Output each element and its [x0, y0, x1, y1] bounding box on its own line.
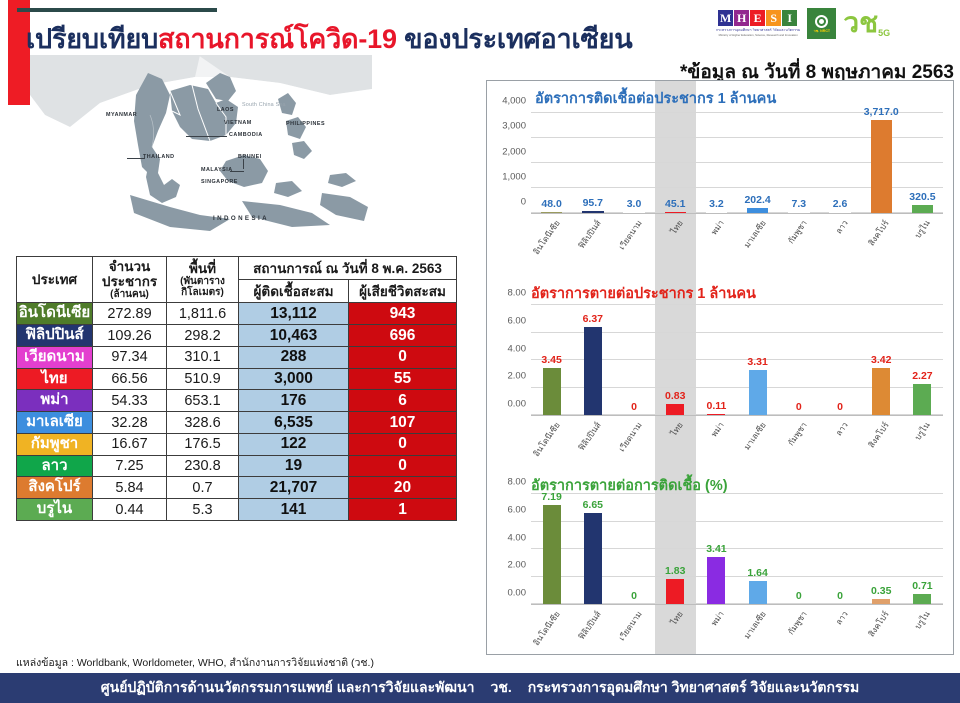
bar-value-label: 2.6 [833, 198, 848, 210]
title-rule [17, 8, 217, 12]
bar-value-label: 0.11 [706, 400, 726, 412]
y-axis-tick: 0 [521, 197, 526, 208]
page-title: เปรียบเทียบสถานการณ์โควิด-19 ของประเทศอา… [26, 17, 633, 60]
th-area-main: พื้นที่ [189, 261, 216, 276]
x-axis-label: ฟิลิปปินส์ [572, 606, 613, 650]
x-axis-label: ไทย [655, 606, 696, 650]
bar-value-label: 3,717.0 [864, 106, 899, 118]
cell-cases: 10,463 [239, 325, 349, 347]
cell-population: 0.44 [93, 499, 167, 521]
bar-group: 6.37 [572, 305, 613, 415]
bar-group: 3.31 [737, 305, 778, 415]
chart1-axis [531, 213, 943, 214]
bar-group: 3.0 [613, 113, 654, 213]
cell-country: กัมพูชา [17, 433, 93, 455]
bar-group: 45.1 [655, 113, 696, 213]
x-axis-label-text: สิงคโปร์ [865, 217, 893, 249]
x-axis-label: กัมพูชา [778, 417, 819, 461]
bar-group: 0.11 [696, 305, 737, 415]
bar-value-label: 6.37 [583, 313, 603, 325]
y-axis-tick: 6.00 [508, 315, 527, 326]
x-axis-label: สิงคโปร์ [861, 606, 902, 650]
mhesi-letter-h: H [734, 10, 749, 26]
cell-deaths: 0 [349, 455, 457, 477]
x-axis-label: สิงคโปร์ [861, 215, 902, 259]
bar-group: 0 [819, 494, 860, 604]
x-axis-label-text: พม่า [707, 217, 727, 238]
cell-population: 54.33 [93, 390, 167, 412]
cell-deaths: 20 [349, 477, 457, 499]
bar-value-label: 0 [796, 590, 802, 602]
bar-value-label: 3.31 [747, 356, 767, 368]
bar-value-label: 1.64 [747, 567, 767, 579]
x-axis-label: พม่า [696, 417, 737, 461]
cell-cases: 176 [239, 390, 349, 412]
x-axis-label: ไทย [655, 417, 696, 461]
x-axis-label-text: พม่า [707, 608, 727, 629]
cell-area: 510.9 [167, 368, 239, 390]
map-leader-brunei [243, 159, 244, 169]
x-axis-label: กัมพูชา [778, 215, 819, 259]
table-row: ไทย66.56510.93,00055 [17, 368, 457, 390]
bar-group: 0.83 [655, 305, 696, 415]
map-leader-thailand [127, 158, 145, 159]
x-axis-label: เวียดนาม [613, 606, 654, 650]
southeast-asia-map: MYANMAR LAOS VIETNAM CAMBODIA THAILAND M… [30, 55, 372, 251]
cell-country: เวียดนาม [17, 346, 93, 368]
cell-country: พม่า [17, 390, 93, 412]
cell-area: 328.6 [167, 412, 239, 434]
bar-value-label: 3.45 [541, 354, 561, 366]
bar [913, 384, 931, 415]
y-axis-tick: 4.00 [508, 532, 527, 543]
bar [872, 368, 890, 415]
bar-group: 48.0 [531, 113, 572, 213]
bar [666, 404, 684, 415]
map-label-brunei: BRUNEI [238, 154, 262, 160]
x-axis-label: พม่า [696, 215, 737, 259]
cell-area: 230.8 [167, 455, 239, 477]
bar [749, 581, 767, 604]
table-row: ฟิลิปปินส์109.26298.210,463696 [17, 325, 457, 347]
map-label-laos: LAOS [217, 107, 234, 113]
x-axis-label: บรูไน [902, 215, 943, 259]
bar [749, 370, 767, 416]
chart-death-rate-per-million: อัตราการตายต่อประชากร 1 ล้านคน 0.002.004… [487, 277, 953, 469]
chart1-xlabels: อินโดนีเซียฟิลิปปินส์เวียดนามไทยพม่ามาเล… [531, 215, 943, 259]
bar-value-label: 6.65 [583, 499, 603, 511]
cell-country: บรูไน [17, 499, 93, 521]
th-population-main: จำนวน ประชากร [102, 259, 157, 289]
th-country: ประเทศ [17, 257, 93, 303]
bar-value-label: 3.0 [627, 198, 642, 210]
bar-value-label: 3.42 [871, 354, 891, 366]
bar-value-label: 0 [837, 590, 843, 602]
map-label-cambodia: CAMBODIA [229, 132, 263, 138]
bar-value-label: 2.27 [912, 370, 932, 382]
x-axis-label-text: เวียดนาม [615, 419, 646, 455]
chart3-bars: 7.196.6501.833.411.64000.350.71 [531, 494, 943, 604]
bar [543, 505, 561, 604]
x-axis-label-text: มาเลเซีย [740, 419, 769, 453]
bar [913, 594, 931, 604]
bar-group: 202.4 [737, 113, 778, 213]
cell-area: 1,811.6 [167, 303, 239, 325]
x-axis-label-text: บรูไน [911, 217, 934, 241]
bar-group: 3.45 [531, 305, 572, 415]
y-axis-tick: 6.00 [508, 504, 527, 515]
chart3-title: อัตราการตายต่อการติดเชื้อ (%) [531, 474, 728, 497]
cell-area: 310.1 [167, 346, 239, 368]
x-axis-label: มาเลเซีย [737, 215, 778, 259]
th-situation: สถานการณ์ ณ วันที่ 8 พ.ค. 2563 [239, 257, 457, 280]
cell-population: 16.67 [93, 433, 167, 455]
cell-cases: 19 [239, 455, 349, 477]
footer-right: กระทรวงการอุดมศึกษา วิทยาศาสตร์ วิจัยและ… [528, 677, 860, 699]
th-deaths: ผู้เสียชีวิตสะสม [349, 280, 457, 303]
cell-cases: 141 [239, 499, 349, 521]
cell-country: ไทย [17, 368, 93, 390]
map-label-south-china-sea: South China Sea [242, 103, 270, 109]
cell-area: 653.1 [167, 390, 239, 412]
cell-deaths: 107 [349, 412, 457, 434]
x-axis-label: ไทย [655, 215, 696, 259]
bar-group: 1.83 [655, 494, 696, 604]
bar-value-label: 0 [796, 401, 802, 413]
x-axis-label-text: อินโดนีเซีย [529, 419, 563, 459]
charts-panel: อัตราการติดเชื้อต่อประชากร 1 ล้านคน 01,0… [486, 80, 954, 655]
x-axis-label: ลาว [819, 215, 860, 259]
cell-population: 32.28 [93, 412, 167, 434]
bar [584, 327, 602, 415]
x-axis-label-text: บรูไน [911, 608, 934, 632]
x-axis-label-text: สิงคโปร์ [865, 608, 893, 640]
chart1-title: อัตราการติดเชื้อต่อประชากร 1 ล้านคน [535, 87, 776, 110]
map-label-singapore: SINGAPORE [201, 179, 238, 185]
cell-country: ลาว [17, 455, 93, 477]
chart2-title: อัตราการตายต่อประชากร 1 ล้านคน [531, 282, 756, 305]
cell-area: 298.2 [167, 325, 239, 347]
x-axis-label: พม่า [696, 606, 737, 650]
x-axis-label: เวียดนาม [613, 215, 654, 259]
bar-group: 0 [613, 494, 654, 604]
y-axis-tick: 4.00 [508, 343, 527, 354]
map-label-myanmar: MYANMAR [106, 112, 137, 118]
th-cases: ผู้ติดเชื้อสะสม [239, 280, 349, 303]
y-axis-tick: 0.00 [508, 399, 527, 410]
nrct-label: วช. NRCT [814, 30, 830, 34]
x-axis-label-text: กัมพูชา [784, 419, 811, 449]
cell-population: 109.26 [93, 325, 167, 347]
bar-group: 0.71 [902, 494, 943, 604]
y-axis-tick: 0.00 [508, 588, 527, 599]
bar-group: 3.2 [696, 113, 737, 213]
th-population-sub: (ล้านคน) [94, 289, 165, 300]
bar-value-label: 3.41 [706, 543, 726, 555]
chart3-xlabels: อินโดนีเซียฟิลิปปินส์เวียดนามไทยพม่ามาเล… [531, 606, 943, 650]
mhesi-logo: M H E S I กระทรวงการอุดมศึกษา วิทยาศาสตร… [716, 10, 800, 37]
x-axis-label-text: สิงคโปร์ [865, 419, 893, 451]
table-row: มาเลเซีย32.28328.66,535107 [17, 412, 457, 434]
chart2-axis [531, 415, 943, 416]
bar-group: 0 [778, 305, 819, 415]
x-axis-label-text: มาเลเซีย [740, 608, 769, 642]
page-title-part2: สถานการณ์โควิด-19 [158, 24, 397, 54]
th-area-sub: (พันตารางกิโลเมตร) [168, 276, 237, 298]
mhesi-letter-m: M [718, 10, 733, 26]
bar-group: 3.42 [861, 305, 902, 415]
table-row: เวียดนาม97.34310.12880 [17, 346, 457, 368]
bar-group: 2.27 [902, 305, 943, 415]
table-row: ลาว7.25230.8190 [17, 455, 457, 477]
cell-population: 272.89 [93, 303, 167, 325]
bar [584, 513, 602, 604]
bar-value-label: 0.35 [871, 585, 891, 597]
bar-value-label: 0 [837, 401, 843, 413]
bar-value-label: 1.83 [665, 565, 685, 577]
th-area: พื้นที่ (พันตารางกิโลเมตร) [167, 257, 239, 303]
x-axis-label: เวียดนาม [613, 417, 654, 461]
cell-area: 176.5 [167, 433, 239, 455]
map-graphic [30, 55, 372, 251]
x-axis-label-text: ฟิลิปปินส์ [574, 608, 604, 642]
bar-value-label: 0.83 [665, 390, 685, 402]
x-axis-label-text: ลาว [832, 419, 852, 439]
chart2-xlabels: อินโดนีเซียฟิลิปปินส์เวียดนามไทยพม่ามาเล… [531, 417, 943, 461]
poster-root: เปรียบเทียบสถานการณ์โควิด-19 ของประเทศอา… [0, 0, 960, 703]
bar-group: 95.7 [572, 113, 613, 213]
vch-logo: วช5G [843, 9, 890, 38]
mhesi-letter-s: S [766, 10, 781, 26]
map-label-thailand: THAILAND [143, 154, 175, 160]
bar-value-label: 0 [631, 590, 637, 602]
mhesi-letter-i: I [782, 10, 797, 26]
x-axis-label-text: เวียดนาม [615, 217, 646, 253]
bar-value-label: 95.7 [583, 197, 603, 209]
footer-mid: วช. [490, 677, 511, 699]
cell-country: มาเลเซีย [17, 412, 93, 434]
x-axis-label: ลาว [819, 417, 860, 461]
table-body: อินโดนีเซีย272.891,811.613,112943ฟิลิปปิ… [17, 303, 457, 521]
bar [543, 368, 561, 415]
cell-cases: 21,707 [239, 477, 349, 499]
bar-group: 3,717.0 [861, 113, 902, 213]
page-title-part1: เปรียบเทียบ [26, 24, 158, 54]
source-note: แหล่งข้อมูล : Worldbank, Worldometer, WH… [16, 654, 374, 671]
x-axis-label: อินโดนีเซีย [531, 606, 572, 650]
x-axis-label: ฟิลิปปินส์ [572, 417, 613, 461]
cell-deaths: 55 [349, 368, 457, 390]
cell-deaths: 0 [349, 433, 457, 455]
x-axis-label-text: ไทย [667, 217, 687, 237]
x-axis-label: ฟิลิปปินส์ [572, 215, 613, 259]
map-leader-cambodia [186, 136, 227, 137]
bar-group: 7.19 [531, 494, 572, 604]
table-row: กัมพูชา16.67176.51220 [17, 433, 457, 455]
bar-value-label: 7.3 [792, 198, 807, 210]
x-axis-label-text: เวียดนาม [615, 608, 646, 644]
bar-value-label: 0.71 [912, 580, 932, 592]
x-axis-label-text: ฟิลิปปินส์ [574, 419, 604, 453]
map-label-indonesia: INDONESIA [213, 215, 269, 222]
bar-value-label: 320.5 [909, 191, 935, 203]
table-row: พม่า54.33653.11766 [17, 390, 457, 412]
bar-group: 3.41 [696, 494, 737, 604]
bar [666, 579, 684, 604]
mhesi-letters: M H E S I [718, 10, 798, 26]
bar-group: 0 [613, 305, 654, 415]
vch-5g-badge: 5G [878, 28, 890, 38]
bar-group: 320.5 [902, 113, 943, 213]
y-axis-tick: 3,000 [502, 121, 526, 132]
nrct-logo: วช. NRCT [807, 8, 836, 39]
cell-cases: 13,112 [239, 303, 349, 325]
x-axis-label-text: ลาว [832, 217, 852, 237]
cell-population: 5.84 [93, 477, 167, 499]
bar [707, 557, 725, 604]
bar-group: 0 [778, 494, 819, 604]
chart3-plot: 0.002.004.006.008.00 7.196.6501.833.411.… [531, 494, 943, 604]
bar-value-label: 48.0 [541, 198, 561, 210]
bar-group: 0 [819, 305, 860, 415]
page-title-part3: ของประเทศอาเซียน [397, 24, 633, 54]
mhesi-english-name: Ministry of Higher Education, Science, R… [719, 33, 798, 37]
x-axis-label-text: อินโดนีเซีย [529, 608, 563, 648]
cell-area: 5.3 [167, 499, 239, 521]
cell-population: 97.34 [93, 346, 167, 368]
x-axis-label-text: บรูไน [911, 419, 934, 443]
bar [871, 120, 892, 213]
y-axis-tick: 8.00 [508, 288, 527, 299]
x-axis-label-text: กัมพูชา [784, 608, 811, 638]
x-axis-label: กัมพูชา [778, 606, 819, 650]
y-axis-tick: 2.00 [508, 560, 527, 571]
cell-deaths: 6 [349, 390, 457, 412]
logo-group: M H E S I กระทรวงการอุดมศึกษา วิทยาศาสตร… [716, 8, 890, 39]
x-axis-label: อินโดนีเซีย [531, 215, 572, 259]
bar-group: 0.35 [861, 494, 902, 604]
y-axis-tick: 1,000 [502, 171, 526, 182]
cell-country: ฟิลิปปินส์ [17, 325, 93, 347]
cell-cases: 288 [239, 346, 349, 368]
y-axis-tick: 4,000 [502, 96, 526, 107]
cell-deaths: 1 [349, 499, 457, 521]
footer-left: ศูนย์ปฏิบัติการด้านนวัตกรรมการแพทย์ และก… [101, 677, 475, 699]
chart1-plot: 01,0002,0003,0004,000 48.095.73.045.13.2… [531, 113, 943, 213]
cell-deaths: 943 [349, 303, 457, 325]
table-row: บรูไน0.445.31411 [17, 499, 457, 521]
x-axis-label: มาเลเซีย [737, 606, 778, 650]
cell-cases: 122 [239, 433, 349, 455]
cell-cases: 6,535 [239, 412, 349, 434]
y-axis-tick: 2.00 [508, 371, 527, 382]
gear-icon [813, 13, 830, 30]
bar [912, 205, 933, 213]
map-label-philippines: PHILIPPINES [286, 121, 325, 127]
chart-infection-rate-per-million: อัตราการติดเชื้อต่อประชากร 1 ล้านคน 01,0… [487, 81, 953, 277]
x-axis-label-text: อินโดนีเซีย [529, 217, 563, 257]
cell-country: อินโดนีเซีย [17, 303, 93, 325]
x-axis-label-text: ลาว [832, 608, 852, 628]
th-population: จำนวน ประชากร (ล้านคน) [93, 257, 167, 303]
x-axis-label: บรูไน [902, 417, 943, 461]
cell-deaths: 696 [349, 325, 457, 347]
chart3-axis [531, 604, 943, 605]
x-axis-label: ลาว [819, 606, 860, 650]
cell-population: 7.25 [93, 455, 167, 477]
x-axis-label: สิงคโปร์ [861, 417, 902, 461]
bar-value-label: 45.1 [665, 198, 685, 210]
mhesi-letter-e: E [750, 10, 765, 26]
x-axis-label: บรูไน [902, 606, 943, 650]
x-axis-label-text: มาเลเซีย [740, 217, 769, 251]
vch-wordmark: วช [843, 6, 878, 39]
cell-population: 66.56 [93, 368, 167, 390]
chart2-plot: 0.002.004.006.008.00 3.456.3700.830.113.… [531, 305, 943, 415]
map-label-malaysia: MALAYSIA [201, 167, 233, 173]
map-leader-malaysia [230, 171, 244, 172]
x-axis-label-text: กัมพูชา [784, 217, 811, 247]
x-axis-label-text: ฟิลิปปินส์ [574, 217, 604, 251]
x-axis-label-text: ไทย [667, 419, 687, 439]
chart-case-fatality-rate: อัตราการตายต่อการติดเชื้อ (%) 0.002.004.… [487, 469, 953, 654]
cell-country: สิงคโปร์ [17, 477, 93, 499]
x-axis-label-text: ไทย [667, 608, 687, 628]
bar-value-label: 0 [631, 401, 637, 413]
x-axis-label: มาเลเซีย [737, 417, 778, 461]
bar-value-label: 202.4 [744, 194, 770, 206]
bar-group: 1.64 [737, 494, 778, 604]
bar-value-label: 3.2 [709, 198, 724, 210]
y-axis-tick: 2,000 [502, 146, 526, 157]
bar-group: 7.3 [778, 113, 819, 213]
map-label-vietnam: VIETNAM [224, 120, 252, 126]
chart2-bars: 3.456.3700.830.113.31003.422.27 [531, 305, 943, 415]
table-row: อินโดนีเซีย272.891,811.613,112943 [17, 303, 457, 325]
footer-bar: ศูนย์ปฏิบัติการด้านนวัตกรรมการแพทย์ และก… [0, 673, 960, 703]
asean-comparison-table: ประเทศ จำนวน ประชากร (ล้านคน) พื้นที่ (พ… [16, 256, 457, 521]
table-row: สิงคโปร์5.840.721,70720 [17, 477, 457, 499]
y-axis-tick: 8.00 [508, 477, 527, 488]
x-axis-label: อินโดนีเซีย [531, 417, 572, 461]
cell-area: 0.7 [167, 477, 239, 499]
bar-group: 2.6 [819, 113, 860, 213]
bar-group: 6.65 [572, 494, 613, 604]
cell-cases: 3,000 [239, 368, 349, 390]
chart1-bars: 48.095.73.045.13.2202.47.32.63,717.0320.… [531, 113, 943, 213]
x-axis-label-text: พม่า [707, 419, 727, 440]
cell-deaths: 0 [349, 346, 457, 368]
